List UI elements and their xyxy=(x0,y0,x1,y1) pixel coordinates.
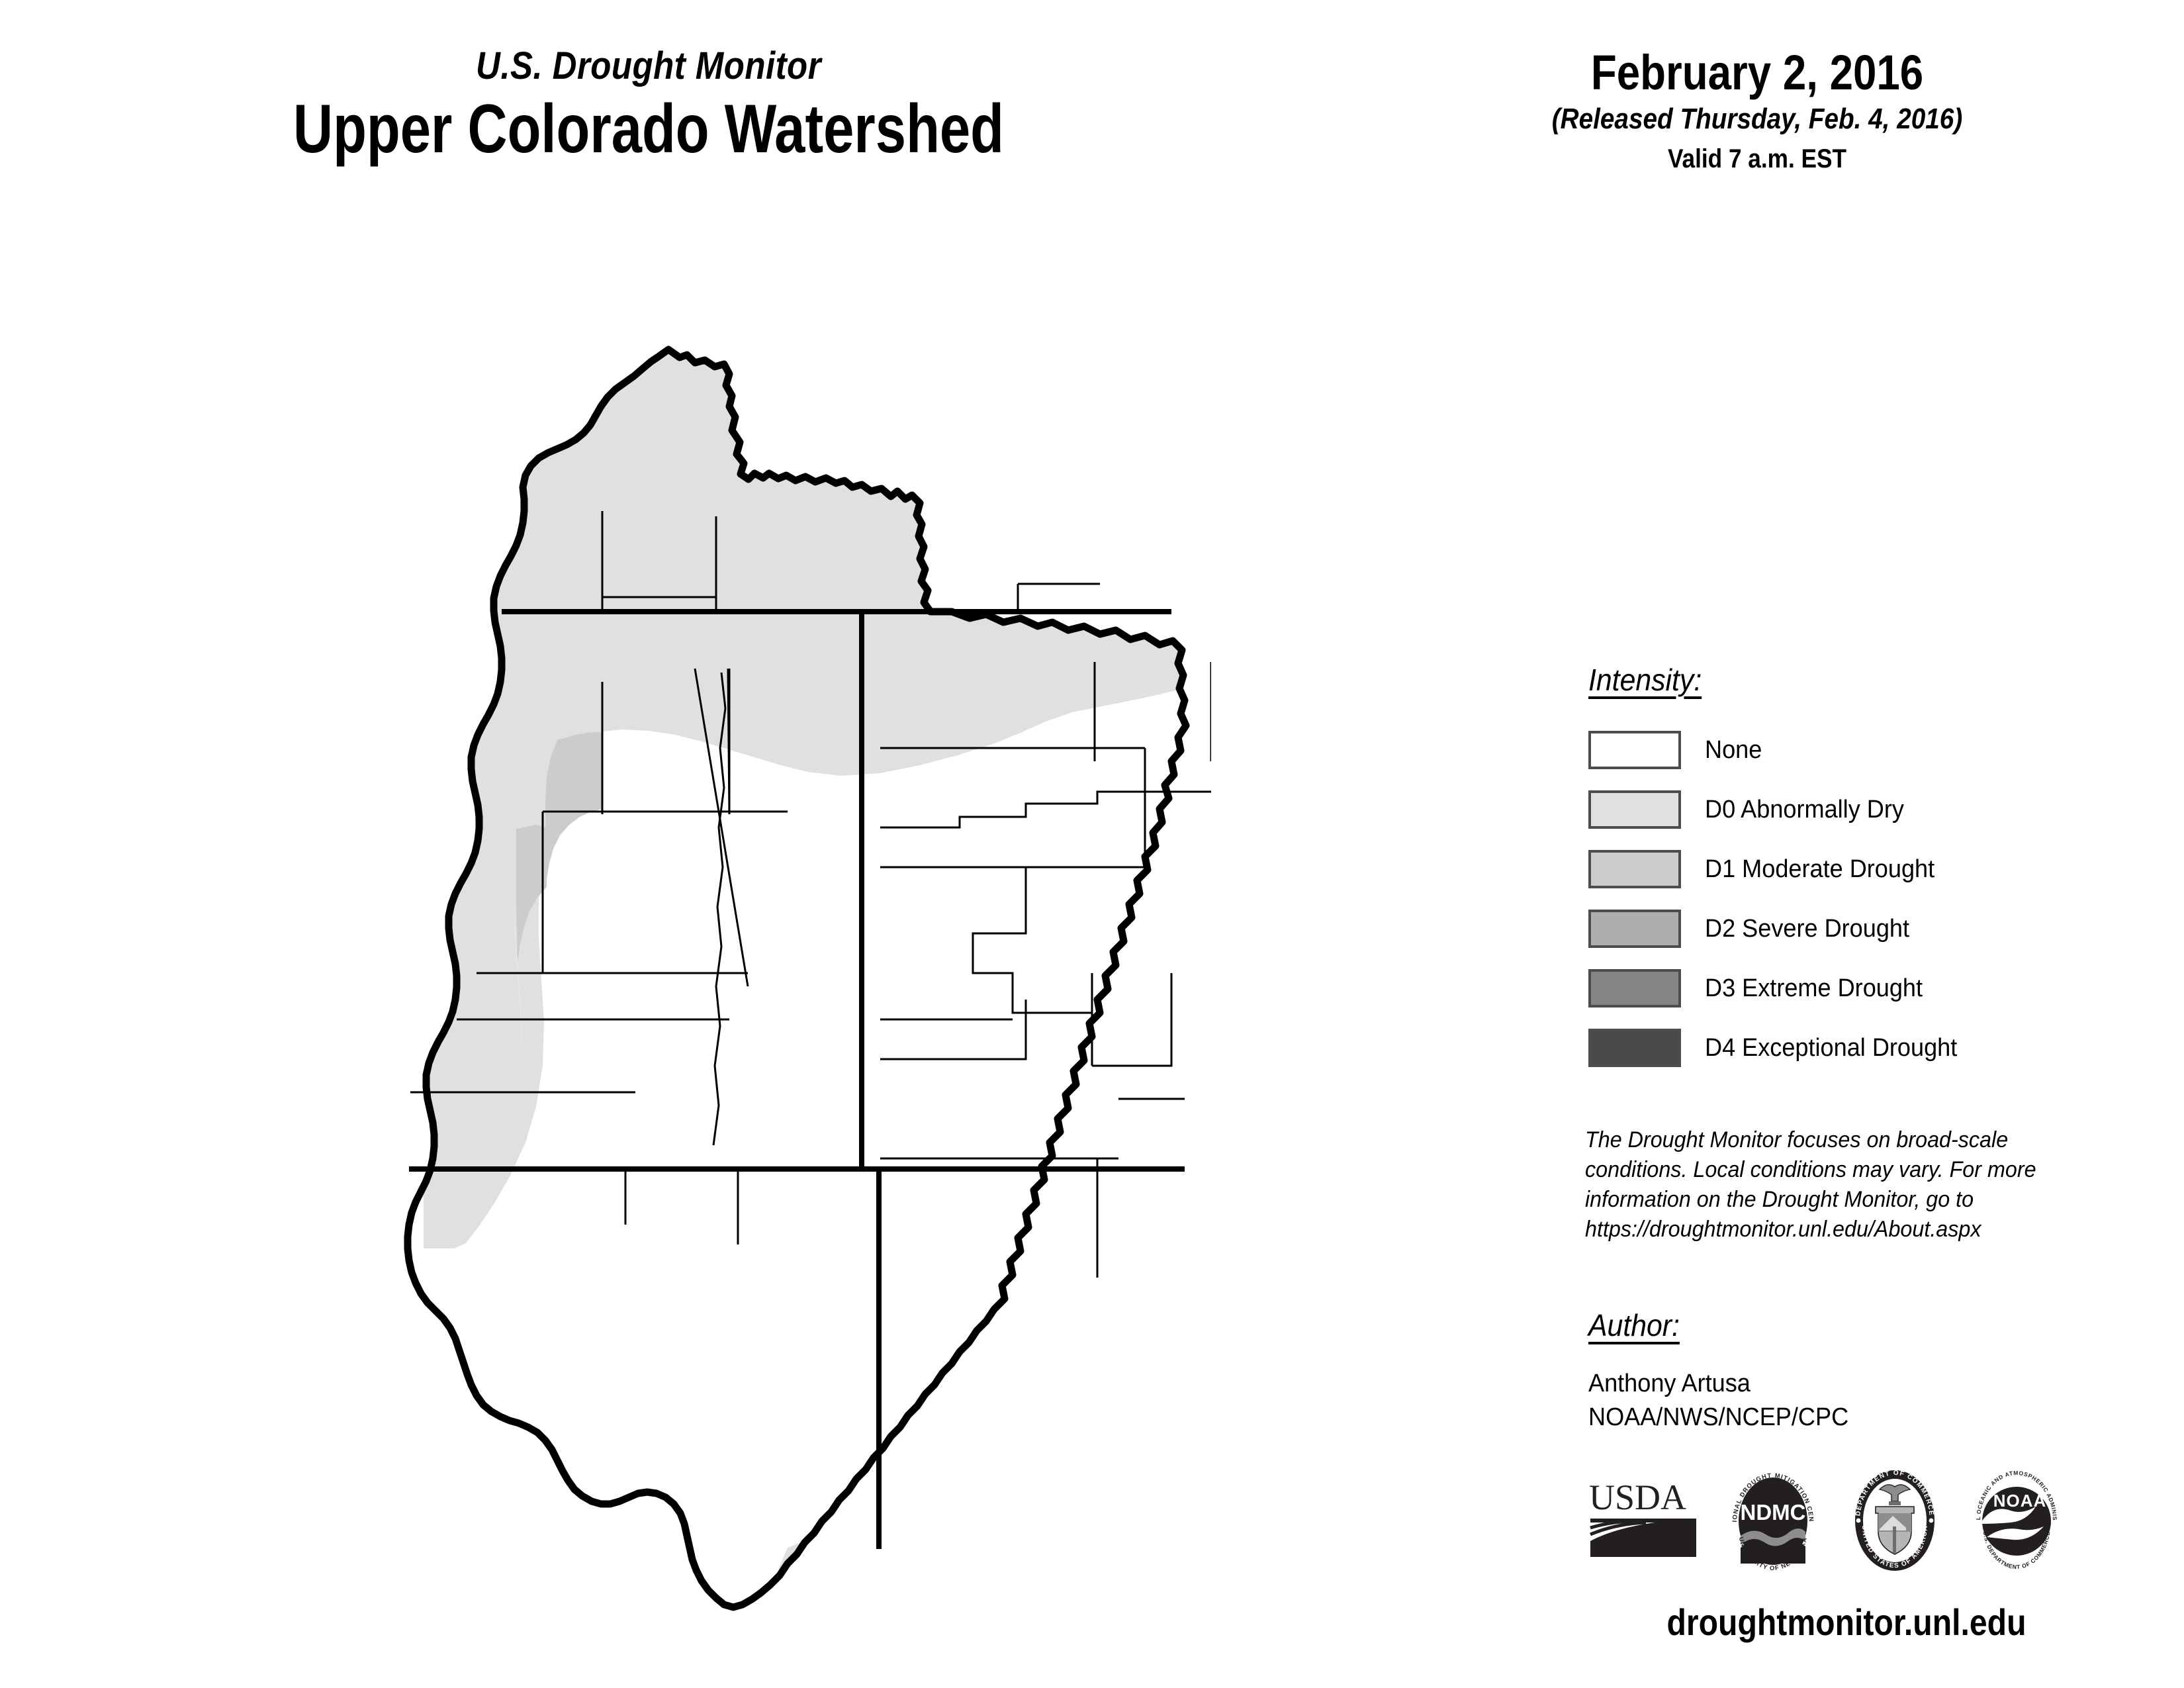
ndmc-logo-text: NDMC xyxy=(1741,1500,1806,1524)
legend-label-d4: D4 Exceptional Drought xyxy=(1705,1034,1957,1062)
legend-swatch-d2 xyxy=(1588,910,1681,948)
author-heading: Author: xyxy=(1588,1307,1680,1343)
program-name: U.S. Drought Monitor xyxy=(78,46,1220,87)
legend-label-none: None xyxy=(1705,736,1762,765)
valid-date: February 2, 2016 xyxy=(1470,48,2045,97)
legend-item-d3[interactable]: D3 Extreme Drought xyxy=(1588,959,2052,1018)
release-date: (Released Thursday, Feb. 4, 2016) xyxy=(1463,104,2052,134)
legend-label-d1: D1 Moderate Drought xyxy=(1705,855,1934,884)
disclaimer-text: The Drought Monitor focuses on broad-sca… xyxy=(1585,1125,2082,1244)
noaa-logo: NOAA NATIONAL OCEANIC AND ATMOSPHERIC AD… xyxy=(1967,1463,2066,1582)
author-block: Anthony Artusa NOAA/NWS/NCEP/CPC xyxy=(1588,1367,1848,1435)
legend-item-none[interactable]: None xyxy=(1588,720,2052,780)
drought-map[interactable] xyxy=(324,338,1211,1655)
legend-swatch-d3 xyxy=(1588,969,1681,1008)
author-name: Anthony Artusa xyxy=(1588,1367,1848,1401)
noaa-logo-text: NOAA xyxy=(1993,1491,2047,1511)
legend-label-d2: D2 Severe Drought xyxy=(1705,915,1909,943)
legend-item-d0[interactable]: D0 Abnormally Dry xyxy=(1588,780,2052,839)
legend-swatch-d4 xyxy=(1588,1029,1681,1067)
usda-logo-text: USDA xyxy=(1589,1477,1686,1517)
legend-heading: Intensity: xyxy=(1588,662,1702,698)
legend-label-d3: D3 Extreme Drought xyxy=(1705,974,1923,1003)
legend-item-d4[interactable]: D4 Exceptional Drought xyxy=(1588,1018,2052,1078)
header-left-block: U.S. Drought Monitor Upper Colorado Wate… xyxy=(0,46,1297,166)
doc-seal: DEPARTMENT OF COMMERCE UNITED STATES OF … xyxy=(1845,1463,1944,1582)
legend-item-d2[interactable]: D2 Severe Drought xyxy=(1588,899,2052,959)
page-title: Upper Colorado Watershed xyxy=(130,92,1167,166)
site-url[interactable]: droughtmonitor.unl.edu xyxy=(1613,1601,2079,1644)
legend-item-d1[interactable]: D1 Moderate Drought xyxy=(1588,839,2052,899)
logo-row: USDA NDMC NATIONAL DROUGHT MITIGATION CE… xyxy=(1585,1460,2115,1585)
legend-swatch-d1 xyxy=(1588,850,1681,888)
ndmc-logo: NDMC NATIONAL DROUGHT MITIGATION CENTER … xyxy=(1723,1463,1823,1582)
header-date-block: February 2, 2016 (Released Thursday, Feb… xyxy=(1423,48,2091,174)
legend-swatch-none xyxy=(1588,731,1681,769)
author-affiliation: NOAA/NWS/NCEP/CPC xyxy=(1588,1401,1848,1434)
intensity-legend: None D0 Abnormally Dry D1 Moderate Droug… xyxy=(1588,720,2052,1078)
legend-swatch-d0 xyxy=(1588,790,1681,829)
usda-logo: USDA xyxy=(1585,1475,1701,1571)
map-svg xyxy=(324,338,1211,1655)
valid-time: Valid 7 a.m. EST xyxy=(1463,144,2052,174)
legend-label-d0: D0 Abnormally Dry xyxy=(1705,796,1904,824)
